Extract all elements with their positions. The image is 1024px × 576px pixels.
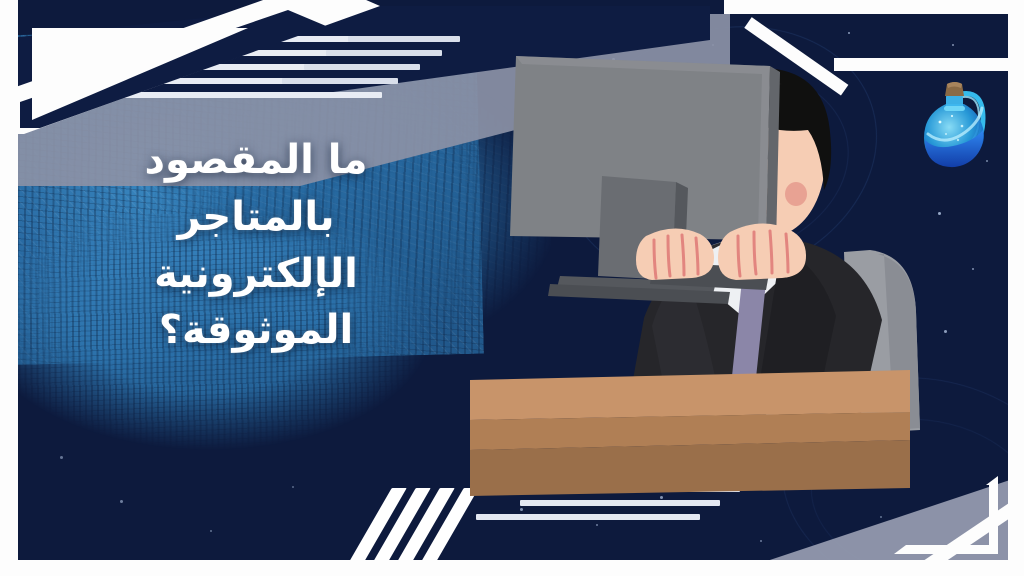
headline-line-2: بالمتاجر — [56, 189, 456, 246]
desk — [470, 370, 910, 496]
potion-bottle-logo-icon[interactable] — [916, 78, 990, 170]
headline-line-4: الموثوقة؟ — [56, 302, 456, 359]
headline-line-1: ما المقصود — [56, 132, 456, 189]
headline-line-3: الإلكترونية — [56, 246, 456, 303]
poster-canvas: ما المقصود بالمتاجر الإلكترونية الموثوقة… — [0, 0, 1024, 576]
headline-text: ما المقصود بالمتاجر الإلكترونية الموثوقة… — [56, 132, 456, 359]
stripe-group-top-left-secondary — [200, 36, 450, 106]
